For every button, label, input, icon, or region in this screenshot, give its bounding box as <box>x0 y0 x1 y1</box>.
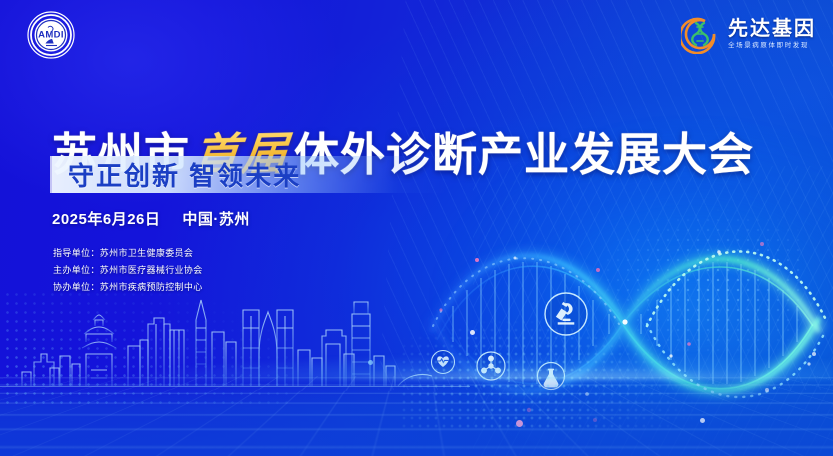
xianda-gene-slogan: 全场景病原体即时发现 <box>728 43 816 50</box>
microscope-icon <box>545 293 587 335</box>
heart-pulse-icon <box>432 351 455 374</box>
event-dateline: 2025年6月26日 中国·苏州 <box>52 208 250 229</box>
conference-banner: AMDI 先达基因 全场景病原体即时发现 苏州市 首届 体外诊断产业发展大会 守… <box>0 0 833 456</box>
particle-dot <box>700 418 705 423</box>
halftone-dots-mid <box>400 318 700 428</box>
perspective-grid-floor <box>0 376 833 456</box>
xianda-gene-mark-icon <box>681 14 721 54</box>
organizer-host: 主办单位：苏州市医疗器械行业协会 <box>53 263 203 276</box>
halftone-dots-right <box>583 205 803 365</box>
particle-dot <box>368 360 373 365</box>
amdi-logo-text: AMDI <box>38 30 64 41</box>
xianda-gene-logo: 先达基因 全场景病原体即时发现 <box>681 14 816 54</box>
particle-dot <box>812 352 816 356</box>
dna-double-helix-infinity <box>419 214 833 444</box>
background-rays <box>378 0 833 390</box>
molecule-icon <box>477 352 505 380</box>
amdi-logo: AMDI <box>27 11 75 59</box>
slogan-bar: 守正创新 智领未来 <box>50 156 445 193</box>
organizer-guidance: 指导单位：苏州市卫生健康委员会 <box>53 246 203 259</box>
organizer-list: 指导单位：苏州市卫生健康委员会 主办单位：苏州市医疗器械行业协会 协办单位：苏州… <box>53 246 203 293</box>
xianda-gene-company-name: 先达基因 <box>728 19 816 39</box>
halftone-dots-left <box>0 290 294 410</box>
event-location: 中国·苏州 <box>182 208 250 229</box>
particle-dot <box>760 242 764 246</box>
particle-dot <box>596 268 600 272</box>
particle-dot <box>470 330 475 335</box>
organizer-cohost: 协办单位：苏州市疾病预防控制中心 <box>53 280 203 293</box>
slogan-text: 守正创新 智领未来 <box>52 156 301 193</box>
flask-icon <box>538 363 565 390</box>
particle-dot <box>516 420 523 427</box>
background-rays-secondary <box>473 166 833 456</box>
event-date: 2025年6月26日 <box>52 208 160 229</box>
horizon-glow <box>120 354 833 380</box>
